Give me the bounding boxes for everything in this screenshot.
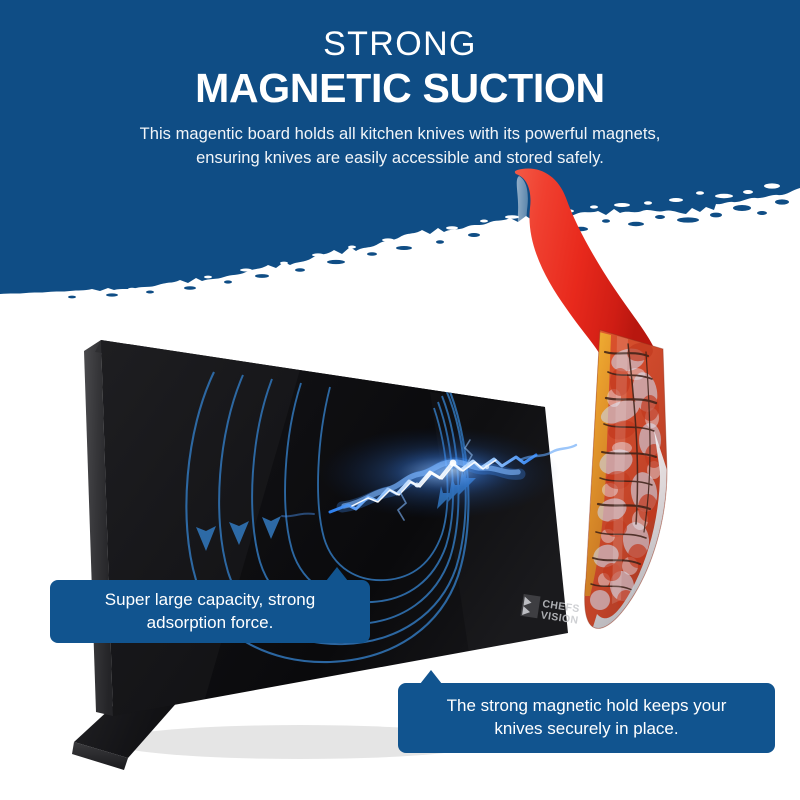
page-title: MAGNETIC SUCTION xyxy=(0,68,800,109)
callout-tail-icon xyxy=(420,670,442,684)
header-description-line-2: ensuring knives are easily accessible an… xyxy=(0,147,800,171)
chevron-mark-icon xyxy=(520,594,540,618)
header-text-block: STRONG MAGNETIC SUCTION This magentic bo… xyxy=(0,0,800,171)
callout-capacity-text: Super large capacity, strong adsorption … xyxy=(105,589,315,635)
product-marketing-banner: STRONG MAGNETIC SUCTION This magentic bo… xyxy=(0,0,800,800)
callout-secure-hold[interactable]: The strong magnetic hold keeps your kniv… xyxy=(398,683,775,753)
knife-blade xyxy=(584,330,667,628)
callout-secure-hold-line-2: knives securely in place. xyxy=(447,718,727,741)
callout-capacity-line-1: Super large capacity, strong xyxy=(105,589,315,612)
callout-secure-hold-line-1: The strong magnetic hold keeps your xyxy=(447,695,727,718)
header-description-line-1: This magentic board holds all kitchen kn… xyxy=(0,123,800,147)
knife-handle xyxy=(515,168,657,368)
callout-tail-icon xyxy=(326,567,348,581)
header-description: This magentic board holds all kitchen kn… xyxy=(0,123,800,171)
header-eyebrow: STRONG xyxy=(0,27,800,61)
callout-secure-hold-text: The strong magnetic hold keeps your kniv… xyxy=(447,695,727,741)
callout-capacity[interactable]: Super large capacity, strong adsorption … xyxy=(50,580,370,643)
callout-capacity-line-2: adsorption force. xyxy=(105,612,315,635)
